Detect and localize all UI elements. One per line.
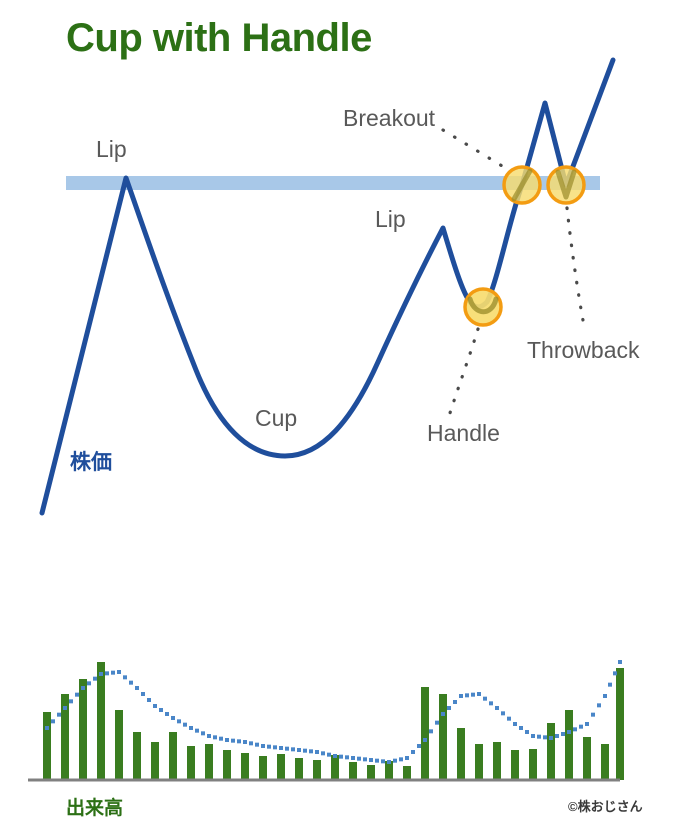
volume-bars xyxy=(43,662,624,780)
volume-ma-dot xyxy=(375,759,379,763)
volume-ma-dot xyxy=(339,755,343,759)
volume-ma-dot xyxy=(255,743,259,747)
volume-ma-dot xyxy=(411,750,415,754)
annotation-handle: Handle xyxy=(427,420,500,447)
volume-ma-dot xyxy=(63,706,67,710)
volume-ma-dot xyxy=(243,740,247,744)
annotation-lip-left: Lip xyxy=(96,136,127,163)
volume-ma-dot xyxy=(585,722,589,726)
annotation-cup: Cup xyxy=(255,405,297,432)
volume-bar xyxy=(259,756,267,780)
copyright-notice: ©株おじさん xyxy=(568,796,643,815)
volume-bar xyxy=(616,668,624,780)
volume-ma-dot xyxy=(99,672,103,676)
volume-bar xyxy=(223,750,231,780)
volume-ma-dot xyxy=(153,704,157,708)
volume-ma-dot xyxy=(171,716,175,720)
volume-ma-dot xyxy=(201,731,205,735)
volume-ma-dot xyxy=(393,759,397,763)
volume-ma-dot xyxy=(603,694,607,698)
volume-ma-dot xyxy=(75,693,79,697)
volume-ma-dot xyxy=(453,700,457,704)
volume-ma-dot xyxy=(207,734,211,738)
volume-ma-dot xyxy=(567,730,571,734)
volume-ma-dot xyxy=(147,698,151,702)
volume-bar xyxy=(187,746,195,780)
volume-ma-dot xyxy=(159,708,163,712)
volume-bar xyxy=(511,750,519,780)
volume-ma-dot xyxy=(459,694,463,698)
volume-bar xyxy=(331,755,339,780)
volume-ma-dot xyxy=(141,692,145,696)
volume-bar xyxy=(241,753,249,780)
volume-bar xyxy=(439,694,447,780)
volume-ma-dot xyxy=(573,727,577,731)
volume-bar xyxy=(169,732,177,780)
volume-ma-dot xyxy=(231,739,235,743)
volume-bar xyxy=(151,742,159,780)
volume-bar xyxy=(421,687,429,780)
volume-bar xyxy=(493,742,501,780)
volume-ma-dot xyxy=(525,730,529,734)
volume-ma-dot xyxy=(327,753,331,757)
volume-ma-dot xyxy=(117,670,121,674)
volume-ma-dot xyxy=(129,681,133,685)
volume-ma-dot xyxy=(513,722,517,726)
volume-ma-dot xyxy=(177,719,181,723)
volume-ma-dot xyxy=(45,726,49,730)
volume-ma-dot xyxy=(285,747,289,751)
volume-ma-dot xyxy=(489,701,493,705)
volume-ma-dot xyxy=(321,751,325,755)
volume-bar xyxy=(367,765,375,780)
volume-bar xyxy=(133,732,141,780)
volume-ma-dot xyxy=(69,699,73,703)
volume-bar xyxy=(547,723,555,780)
volume-bar xyxy=(529,749,537,780)
volume-ma-dot xyxy=(561,732,565,736)
volume-ma-dot xyxy=(471,693,475,697)
volume-bar xyxy=(349,762,357,780)
volume-ma-dot xyxy=(591,713,595,717)
volume-ma-dot xyxy=(405,756,409,760)
volume-ma-dot xyxy=(225,738,229,742)
volume-bar xyxy=(403,766,411,780)
volume-ma-dot xyxy=(333,754,337,758)
volume-bar xyxy=(457,728,465,780)
volume-ma-dot xyxy=(345,755,349,759)
volume-bar xyxy=(97,662,105,780)
volume-ma-dot xyxy=(81,686,85,690)
volume-ma-dot xyxy=(291,747,295,751)
volume-bar xyxy=(205,744,213,780)
volume-ma-dot xyxy=(501,711,505,715)
volume-bar xyxy=(277,754,285,780)
volume-ma-dot xyxy=(549,736,553,740)
annotation-breakout: Breakout xyxy=(343,105,435,132)
volume-moving-average xyxy=(45,660,622,764)
volume-ma-dot xyxy=(447,706,451,710)
volume-ma-dot xyxy=(369,758,373,762)
volume-ma-dot xyxy=(579,725,583,729)
volume-ma-dot xyxy=(315,750,319,754)
volume-bar xyxy=(475,744,483,780)
volume-ma-dot xyxy=(537,735,541,739)
volume-ma-dot xyxy=(399,757,403,761)
volume-ma-dot xyxy=(543,735,547,739)
volume-ma-dot xyxy=(531,734,535,738)
volume-ma-dot xyxy=(195,729,199,733)
volume-ma-dot xyxy=(51,719,55,723)
volume-ma-dot xyxy=(387,760,391,764)
volume-ma-dot xyxy=(111,671,115,675)
volume-axis-label: 出来高 xyxy=(66,793,123,820)
volume-ma-dot xyxy=(237,739,241,743)
volume-bar xyxy=(313,760,321,780)
volume-ma-dot xyxy=(435,721,439,725)
volume-ma-dot xyxy=(597,703,601,707)
volume-ma-dot xyxy=(183,723,187,727)
volume-bar xyxy=(583,737,591,780)
annotation-throwback: Throwback xyxy=(527,337,639,364)
volume-ma-dot xyxy=(87,681,91,685)
volume-ma-dot xyxy=(465,693,469,697)
price-axis-label: 株価 xyxy=(70,446,112,476)
volume-ma-dot xyxy=(519,726,523,730)
volume-ma-dot xyxy=(189,726,193,730)
volume-ma-dot xyxy=(165,712,169,716)
volume-ma-dot xyxy=(57,713,61,717)
volume-ma-dot xyxy=(608,683,612,687)
volume-ma-dot xyxy=(429,729,433,733)
volume-bar xyxy=(601,744,609,780)
volume-bar xyxy=(43,712,51,780)
volume-ma-dot xyxy=(93,677,97,681)
chart-canvas: Cup with Handle xyxy=(0,0,691,837)
volume-ma-dot xyxy=(357,757,361,761)
volume-bar xyxy=(115,710,123,780)
volume-ma-dot xyxy=(213,735,217,739)
volume-ma-dot xyxy=(351,756,355,760)
annotation-lip-right: Lip xyxy=(375,206,406,233)
volume-ma-dot xyxy=(417,744,421,748)
volume-ma-dot xyxy=(381,759,385,763)
volume-ma-dot xyxy=(618,660,622,664)
volume-ma-dot xyxy=(267,745,271,749)
volume-ma-dot xyxy=(495,706,499,710)
volume-ma-dot xyxy=(613,671,617,675)
volume-ma-dot xyxy=(135,686,139,690)
volume-ma-dot xyxy=(261,744,265,748)
volume-ma-dot xyxy=(555,734,559,738)
volume-ma-dot xyxy=(483,697,487,701)
volume-ma-dot xyxy=(219,737,223,741)
volume-ma-dot xyxy=(105,671,109,675)
volume-ma-dot xyxy=(441,712,445,716)
volume-ma-dot xyxy=(423,738,427,742)
volume-ma-dot xyxy=(297,748,301,752)
volume-ma-dot xyxy=(123,675,127,679)
volume-ma-dot xyxy=(477,692,481,696)
volume-ma-dot xyxy=(309,749,313,753)
volume-bar xyxy=(295,758,303,780)
volume-bar xyxy=(79,679,87,780)
volume-ma-dot xyxy=(249,741,253,745)
volume-bar xyxy=(565,710,573,780)
volume-ma-dot xyxy=(273,745,277,749)
volume-ma-dot xyxy=(507,717,511,721)
volume-ma-dot xyxy=(303,749,307,753)
volume-ma-dot xyxy=(363,757,367,761)
volume-ma-dot xyxy=(279,746,283,750)
